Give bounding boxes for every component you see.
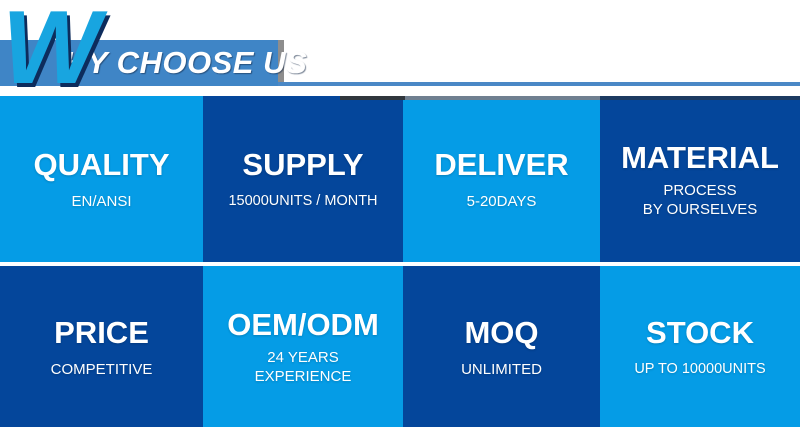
page-title: HY CHOOSE US bbox=[64, 44, 307, 82]
banner-header: W HY CHOOSE US bbox=[0, 0, 800, 96]
feature-title-price: PRICE bbox=[54, 315, 149, 351]
why-choose-us-banner: W HY CHOOSE US QUALITY EN/ANSI SUPPLY 15… bbox=[0, 0, 800, 427]
feature-title-material: MATERIAL bbox=[621, 140, 779, 176]
feature-cell-stock: STOCK UP TO 10000UNITS bbox=[600, 266, 800, 427]
feature-title-oem-odm: OEM/ODM bbox=[227, 307, 379, 343]
feature-subtitle-deliver: 5-20DAYS bbox=[467, 192, 537, 211]
feature-title-supply: SUPPLY bbox=[242, 147, 363, 183]
feature-title-deliver: DELIVER bbox=[434, 147, 568, 183]
feature-row-1: QUALITY EN/ANSI SUPPLY 15000UNITS / MONT… bbox=[0, 96, 800, 262]
feature-subtitle-supply: 15000UNITS / MONTH bbox=[228, 192, 377, 211]
feature-subtitle-material: PROCESS BY OURSELVES bbox=[643, 181, 758, 219]
feature-subtitle-oem-odm: 24 YEARS EXPERIENCE bbox=[255, 348, 352, 386]
drop-cap-letter: W bbox=[2, 0, 96, 100]
feature-cell-deliver: DELIVER 5-20DAYS bbox=[403, 96, 600, 262]
header-white-panel bbox=[284, 40, 800, 82]
feature-title-moq: MOQ bbox=[464, 315, 538, 351]
feature-subtitle-moq: UNLIMITED bbox=[461, 360, 542, 379]
feature-title-quality: QUALITY bbox=[33, 147, 169, 183]
feature-subtitle-stock: UP TO 10000UNITS bbox=[634, 360, 765, 379]
feature-cell-moq: MOQ UNLIMITED bbox=[403, 266, 600, 427]
ribbon-rule bbox=[278, 82, 800, 86]
feature-cell-price: PRICE COMPETITIVE bbox=[0, 266, 203, 427]
feature-cell-material: MATERIAL PROCESS BY OURSELVES bbox=[600, 96, 800, 262]
feature-cell-quality: QUALITY EN/ANSI bbox=[0, 96, 203, 262]
feature-cell-oem-odm: OEM/ODM 24 YEARS EXPERIENCE bbox=[203, 266, 403, 427]
feature-row-2: PRICE COMPETITIVE OEM/ODM 24 YEARS EXPER… bbox=[0, 266, 800, 427]
feature-grid: QUALITY EN/ANSI SUPPLY 15000UNITS / MONT… bbox=[0, 96, 800, 427]
feature-subtitle-price: COMPETITIVE bbox=[51, 360, 153, 379]
feature-cell-supply: SUPPLY 15000UNITS / MONTH bbox=[203, 96, 403, 262]
feature-title-stock: STOCK bbox=[646, 315, 754, 351]
feature-subtitle-quality: EN/ANSI bbox=[71, 192, 131, 211]
